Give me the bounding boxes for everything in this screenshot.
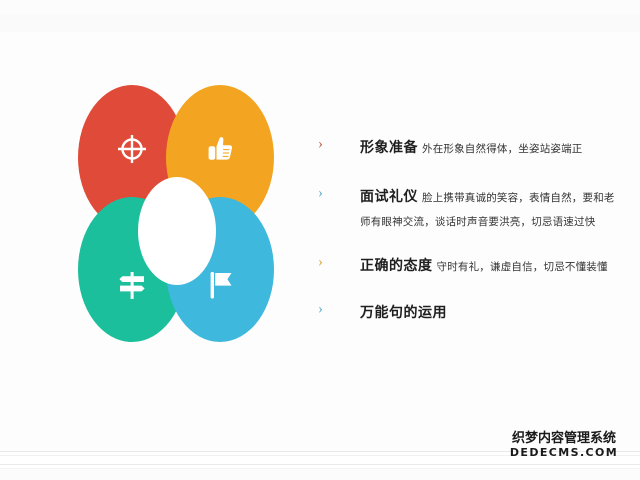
list-item[interactable]: › 面试礼仪 脸上携带真诚的笑容，表情自然，要和老师有眼神交流，谈话时声音要洪亮… [318, 185, 624, 231]
point-title: 面试礼仪 [360, 190, 418, 205]
four-petal-diagram [78, 85, 278, 345]
flag-icon [198, 263, 242, 307]
list-item[interactable]: › 形象准备 外在形象自然得体，坐姿站姿端正 [318, 136, 624, 159]
point-title: 形象准备 [360, 141, 418, 156]
target-icon [110, 127, 154, 171]
point-detail: 外在形象自然得体，坐姿站姿端正 [422, 144, 583, 155]
watermark-cn: 织梦内容管理系统 [498, 432, 630, 447]
point-title: 正确的态度 [360, 259, 433, 274]
point-paragraph: 面试礼仪 脸上携带真诚的笑容，表情自然，要和老师有眼神交流，谈话时声音要洪亮，切… [360, 185, 624, 231]
bullet-icon: › [318, 255, 323, 270]
footer-band [0, 469, 640, 480]
point-detail: 守时有礼，谦虚自信，切忌不懂装懂 [437, 262, 608, 273]
thumbs-up-icon [198, 127, 242, 171]
diagram-center-circle [138, 177, 216, 285]
watermark-en: DEDECMS.COM [498, 447, 630, 460]
list-item[interactable]: › 万能句的运用 [318, 301, 624, 324]
bullet-icon: › [318, 302, 323, 317]
point-paragraph: 正确的态度 守时有礼，谦虚自信，切忌不懂装懂 [360, 254, 624, 277]
top-band [0, 0, 640, 14]
slide-canvas: › 形象准备 外在形象自然得体，坐姿站姿端正 › 面试礼仪 脸上携带真诚的笑容，… [0, 0, 640, 480]
list-item[interactable]: › 正确的态度 守时有礼，谦虚自信，切忌不懂装懂 [318, 254, 624, 277]
bullet-icon: › [318, 137, 323, 152]
point-paragraph: 万能句的运用 [360, 301, 624, 324]
upper-band [0, 14, 640, 32]
bullet-icon: › [318, 186, 323, 201]
points-list: › 形象准备 外在形象自然得体，坐姿站姿端正 › 面试礼仪 脸上携带真诚的笑容，… [318, 136, 624, 344]
point-paragraph: 形象准备 外在形象自然得体，坐姿站姿端正 [360, 136, 624, 159]
watermark: 织梦内容管理系统 DEDECMS.COM [498, 432, 630, 460]
point-title: 万能句的运用 [360, 306, 447, 321]
signpost-icon [110, 263, 154, 307]
divider-line [0, 464, 640, 465]
